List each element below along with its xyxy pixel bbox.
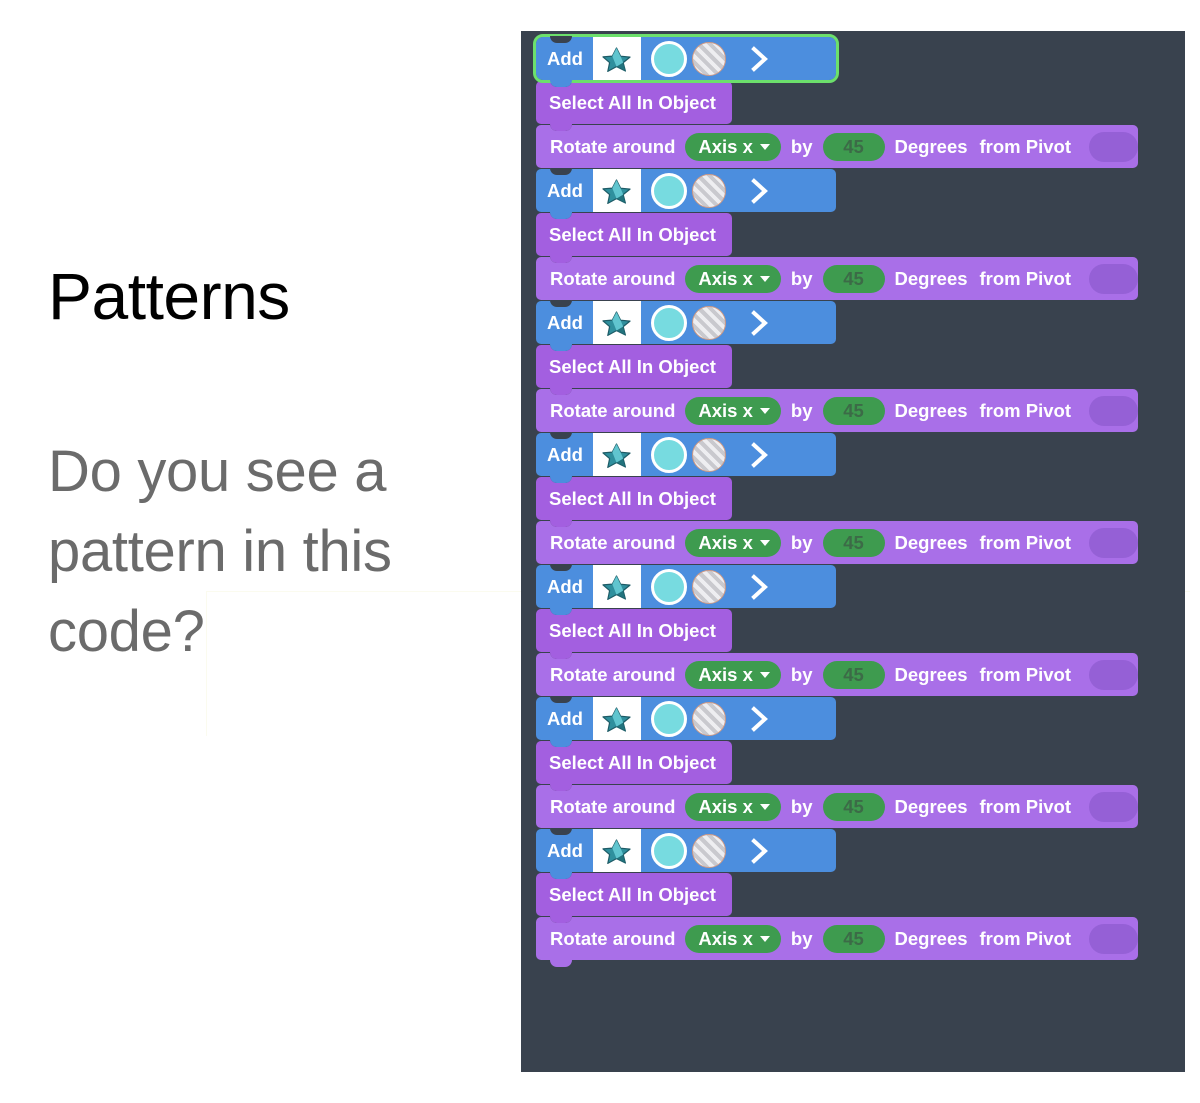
axis-dropdown[interactable]: Axis x: [685, 793, 781, 821]
chevron-down-icon: [760, 936, 770, 942]
star-object-icon: [593, 565, 641, 608]
rotate-degrees-label: Degrees: [895, 400, 968, 422]
block-select-all-in-object[interactable]: Select All In Object: [536, 213, 732, 256]
block-stack[interactable]: AddSelect All In ObjectRotate aroundAxis…: [536, 37, 1138, 961]
selected-circle-icon[interactable]: [651, 41, 687, 77]
axis-dropdown-value: Axis x: [698, 400, 753, 422]
rotate-from-pivot-label: from Pivot: [980, 268, 1071, 290]
star-object-icon: [593, 169, 641, 212]
block-add-label: Add: [547, 840, 583, 862]
rotate-by-label: by: [791, 400, 813, 422]
rotate-by-label: by: [791, 268, 813, 290]
chevron-right-icon[interactable]: [745, 176, 775, 206]
chevron-down-icon: [760, 540, 770, 546]
axis-dropdown[interactable]: Axis x: [685, 529, 781, 557]
degrees-input[interactable]: 45: [823, 793, 885, 821]
block-add[interactable]: Add: [536, 433, 836, 476]
chevron-right-icon[interactable]: [745, 44, 775, 74]
rotate-degrees-label: Degrees: [895, 928, 968, 950]
block-add[interactable]: Add: [536, 565, 836, 608]
pivot-slot[interactable]: [1089, 924, 1138, 954]
rotate-from-pivot-label: from Pivot: [980, 664, 1071, 686]
block-select-label: Select All In Object: [549, 488, 716, 510]
rotate-by-label: by: [791, 928, 813, 950]
block-add-label: Add: [547, 444, 583, 466]
block-add[interactable]: Add: [536, 301, 836, 344]
block-select-label: Select All In Object: [549, 92, 716, 114]
chevron-down-icon: [760, 276, 770, 282]
rotate-from-pivot-label: from Pivot: [980, 532, 1071, 554]
axis-dropdown-value: Axis x: [698, 136, 753, 158]
star-object-icon: [593, 829, 641, 872]
axis-dropdown-value: Axis x: [698, 796, 753, 818]
block-select-all-in-object[interactable]: Select All In Object: [536, 741, 732, 784]
pivot-slot[interactable]: [1089, 132, 1138, 162]
rotate-degrees-label: Degrees: [895, 268, 968, 290]
block-add-label: Add: [547, 312, 583, 334]
rotate-from-pivot-label: from Pivot: [980, 400, 1071, 422]
degrees-input[interactable]: 45: [823, 529, 885, 557]
block-add[interactable]: Add: [536, 37, 836, 80]
degrees-input[interactable]: 45: [823, 661, 885, 689]
block-rotate-label: Rotate around: [550, 664, 675, 686]
selected-circle-icon[interactable]: [651, 833, 687, 869]
block-rotate-around[interactable]: Rotate aroundAxis xby45Degreesfrom Pivot: [536, 257, 1138, 300]
unselected-hatched-circle-icon[interactable]: [692, 42, 726, 76]
chevron-down-icon: [760, 672, 770, 678]
axis-dropdown-value: Axis x: [698, 664, 753, 686]
block-rotate-around[interactable]: Rotate aroundAxis xby45Degreesfrom Pivot: [536, 785, 1138, 828]
selected-circle-icon[interactable]: [651, 305, 687, 341]
star-object-icon: [593, 37, 641, 80]
unselected-hatched-circle-icon[interactable]: [692, 834, 726, 868]
axis-dropdown-value: Axis x: [698, 532, 753, 554]
block-rotate-label: Rotate around: [550, 928, 675, 950]
block-rotate-label: Rotate around: [550, 136, 675, 158]
degrees-input[interactable]: 45: [823, 925, 885, 953]
axis-dropdown[interactable]: Axis x: [685, 925, 781, 953]
block-select-label: Select All In Object: [549, 752, 716, 774]
block-select-all-in-object[interactable]: Select All In Object: [536, 477, 732, 520]
axis-dropdown[interactable]: Axis x: [685, 397, 781, 425]
rotate-by-label: by: [791, 136, 813, 158]
axis-dropdown[interactable]: Axis x: [685, 661, 781, 689]
pivot-slot[interactable]: [1089, 792, 1138, 822]
chevron-right-icon[interactable]: [745, 440, 775, 470]
block-select-all-in-object[interactable]: Select All In Object: [536, 81, 732, 124]
block-select-all-in-object[interactable]: Select All In Object: [536, 345, 732, 388]
axis-dropdown[interactable]: Axis x: [685, 133, 781, 161]
pivot-slot[interactable]: [1089, 528, 1138, 558]
slide-body-text: Do you see a pattern in this code?: [48, 432, 468, 672]
rotate-from-pivot-label: from Pivot: [980, 136, 1071, 158]
unselected-hatched-circle-icon[interactable]: [692, 702, 726, 736]
block-add-label: Add: [547, 180, 583, 202]
selected-circle-icon[interactable]: [651, 701, 687, 737]
chevron-right-icon[interactable]: [745, 572, 775, 602]
block-rotate-around[interactable]: Rotate aroundAxis xby45Degreesfrom Pivot: [536, 917, 1138, 960]
rotate-from-pivot-label: from Pivot: [980, 796, 1071, 818]
unselected-hatched-circle-icon[interactable]: [692, 306, 726, 340]
block-rotate-label: Rotate around: [550, 400, 675, 422]
block-add[interactable]: Add: [536, 697, 836, 740]
block-select-label: Select All In Object: [549, 224, 716, 246]
rotate-degrees-label: Degrees: [895, 532, 968, 554]
degrees-input[interactable]: 45: [823, 397, 885, 425]
selected-circle-icon[interactable]: [651, 569, 687, 605]
block-select-label: Select All In Object: [549, 620, 716, 642]
block-add[interactable]: Add: [536, 169, 836, 212]
axis-dropdown[interactable]: Axis x: [685, 265, 781, 293]
block-rotate-label: Rotate around: [550, 268, 675, 290]
block-add[interactable]: Add: [536, 829, 836, 872]
chevron-down-icon: [760, 144, 770, 150]
rotate-by-label: by: [791, 664, 813, 686]
chevron-right-icon[interactable]: [745, 308, 775, 338]
degrees-input[interactable]: 45: [823, 265, 885, 293]
degrees-input[interactable]: 45: [823, 133, 885, 161]
selected-circle-icon[interactable]: [651, 173, 687, 209]
star-object-icon: [593, 301, 641, 344]
rotate-degrees-label: Degrees: [895, 796, 968, 818]
rotate-degrees-label: Degrees: [895, 136, 968, 158]
rotate-degrees-label: Degrees: [895, 664, 968, 686]
slide-text-area: Patterns: [48, 262, 488, 332]
rotate-from-pivot-label: from Pivot: [980, 928, 1071, 950]
block-add-label: Add: [547, 576, 583, 598]
star-object-icon: [593, 697, 641, 740]
block-select-all-in-object[interactable]: Select All In Object: [536, 609, 732, 652]
unselected-hatched-circle-icon[interactable]: [692, 438, 726, 472]
block-select-all-in-object[interactable]: Select All In Object: [536, 873, 732, 916]
unselected-hatched-circle-icon[interactable]: [692, 174, 726, 208]
chevron-down-icon: [760, 408, 770, 414]
block-rotate-around[interactable]: Rotate aroundAxis xby45Degreesfrom Pivot: [536, 125, 1138, 168]
code-canvas[interactable]: AddSelect All In ObjectRotate aroundAxis…: [521, 31, 1185, 1072]
block-add-label: Add: [547, 708, 583, 730]
block-rotate-label: Rotate around: [550, 532, 675, 554]
block-rotate-around[interactable]: Rotate aroundAxis xby45Degreesfrom Pivot: [536, 389, 1138, 432]
block-select-label: Select All In Object: [549, 356, 716, 378]
axis-dropdown-value: Axis x: [698, 928, 753, 950]
block-select-label: Select All In Object: [549, 884, 716, 906]
pivot-slot[interactable]: [1089, 396, 1138, 426]
unselected-hatched-circle-icon[interactable]: [692, 570, 726, 604]
star-object-icon: [593, 433, 641, 476]
chevron-right-icon[interactable]: [745, 704, 775, 734]
pivot-slot[interactable]: [1089, 264, 1138, 294]
block-rotate-label: Rotate around: [550, 796, 675, 818]
block-rotate-around[interactable]: Rotate aroundAxis xby45Degreesfrom Pivot: [536, 521, 1138, 564]
selected-circle-icon[interactable]: [651, 437, 687, 473]
rotate-by-label: by: [791, 532, 813, 554]
chevron-down-icon: [760, 804, 770, 810]
block-add-label: Add: [547, 48, 583, 70]
rotate-by-label: by: [791, 796, 813, 818]
axis-dropdown-value: Axis x: [698, 268, 753, 290]
block-rotate-around[interactable]: Rotate aroundAxis xby45Degreesfrom Pivot: [536, 653, 1138, 696]
chevron-right-icon[interactable]: [745, 836, 775, 866]
pivot-slot[interactable]: [1089, 660, 1138, 690]
guide-line-vertical: [206, 591, 207, 736]
page-title: Patterns: [48, 262, 488, 332]
